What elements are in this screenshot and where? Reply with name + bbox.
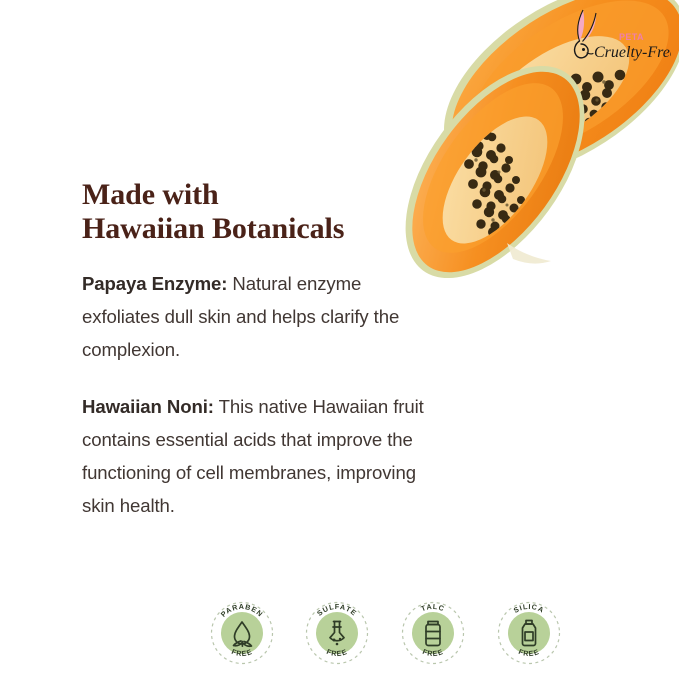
badge-talc-free: TALC FREE [396, 596, 470, 670]
benefit-paragraph-noni: Hawaiian Noni: This native Hawaiian frui… [82, 390, 442, 522]
bunny-ears-icon [575, 10, 596, 58]
certification-badge-row: PARABEN FREE [0, 596, 679, 670]
badge-circle [508, 612, 550, 654]
benefit-lead-noni: Hawaiian Noni: [82, 396, 214, 417]
papaya-half-lower [389, 35, 620, 285]
peta-label-text: Cruelty-Free [594, 44, 671, 61]
seed-cluster-lower [459, 117, 530, 247]
page-title: Made with Hawaiian Botanicals [82, 178, 344, 246]
seed-cluster-upper [492, 70, 645, 132]
badge-top-label: TALC [420, 602, 446, 613]
badge-circle [221, 612, 263, 654]
badge-paraben-free: PARABEN FREE [205, 596, 279, 670]
peta-brand-text: PETA [619, 32, 644, 42]
badge-circle [412, 612, 454, 654]
product-benefits-graphic: Made with Hawaiian Botanicals Papaya Enz… [0, 0, 679, 679]
benefit-lead-papaya: Papaya Enzyme: [82, 273, 227, 294]
badge-sulfate-free: SULFATE FREE [300, 596, 374, 670]
peta-cruelty-free-logo: PETA Cruelty-Free [565, 4, 671, 68]
badge-circle [316, 612, 358, 654]
badge-silica-free: SILICA FREE [492, 596, 566, 670]
benefit-paragraph-papaya: Papaya Enzyme: Natural enzyme exfoliates… [82, 267, 442, 366]
